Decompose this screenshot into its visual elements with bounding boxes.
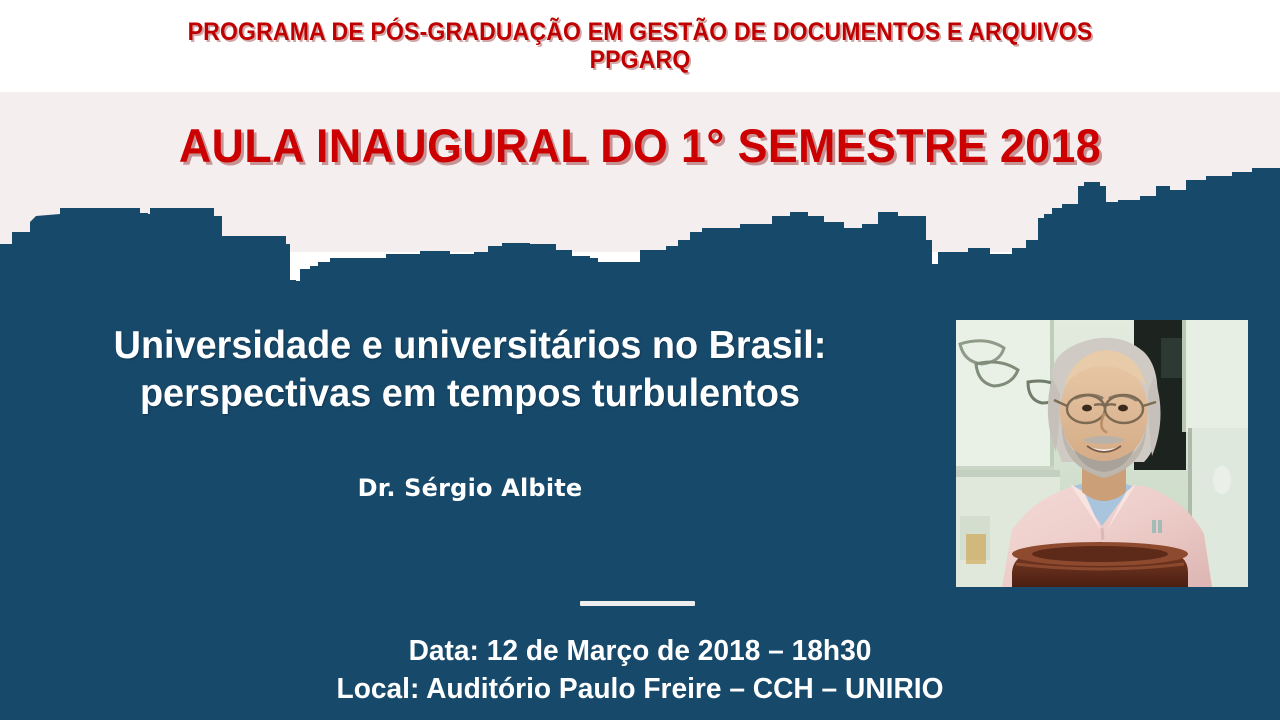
speaker-portrait-image — [956, 320, 1248, 587]
event-poster: PROGRAMA DE PÓS-GRADUAÇÃO EM GESTÃO DE D… — [0, 0, 1280, 720]
event-date: Data: 12 de Março de 2018 – 18h30 — [19, 633, 1261, 671]
event-location: Local: Auditório Paulo Freire – CCH – UN… — [19, 671, 1261, 709]
lecture-title: Universidade e universitários no Brasil:… — [53, 322, 887, 417]
section-divider — [580, 601, 695, 606]
speaker-name: Dr. Sérgio Albite — [40, 474, 900, 502]
event-details: Data: 12 de Março de 2018 – 18h30 Local:… — [19, 633, 1261, 708]
speaker-photo — [956, 320, 1248, 587]
